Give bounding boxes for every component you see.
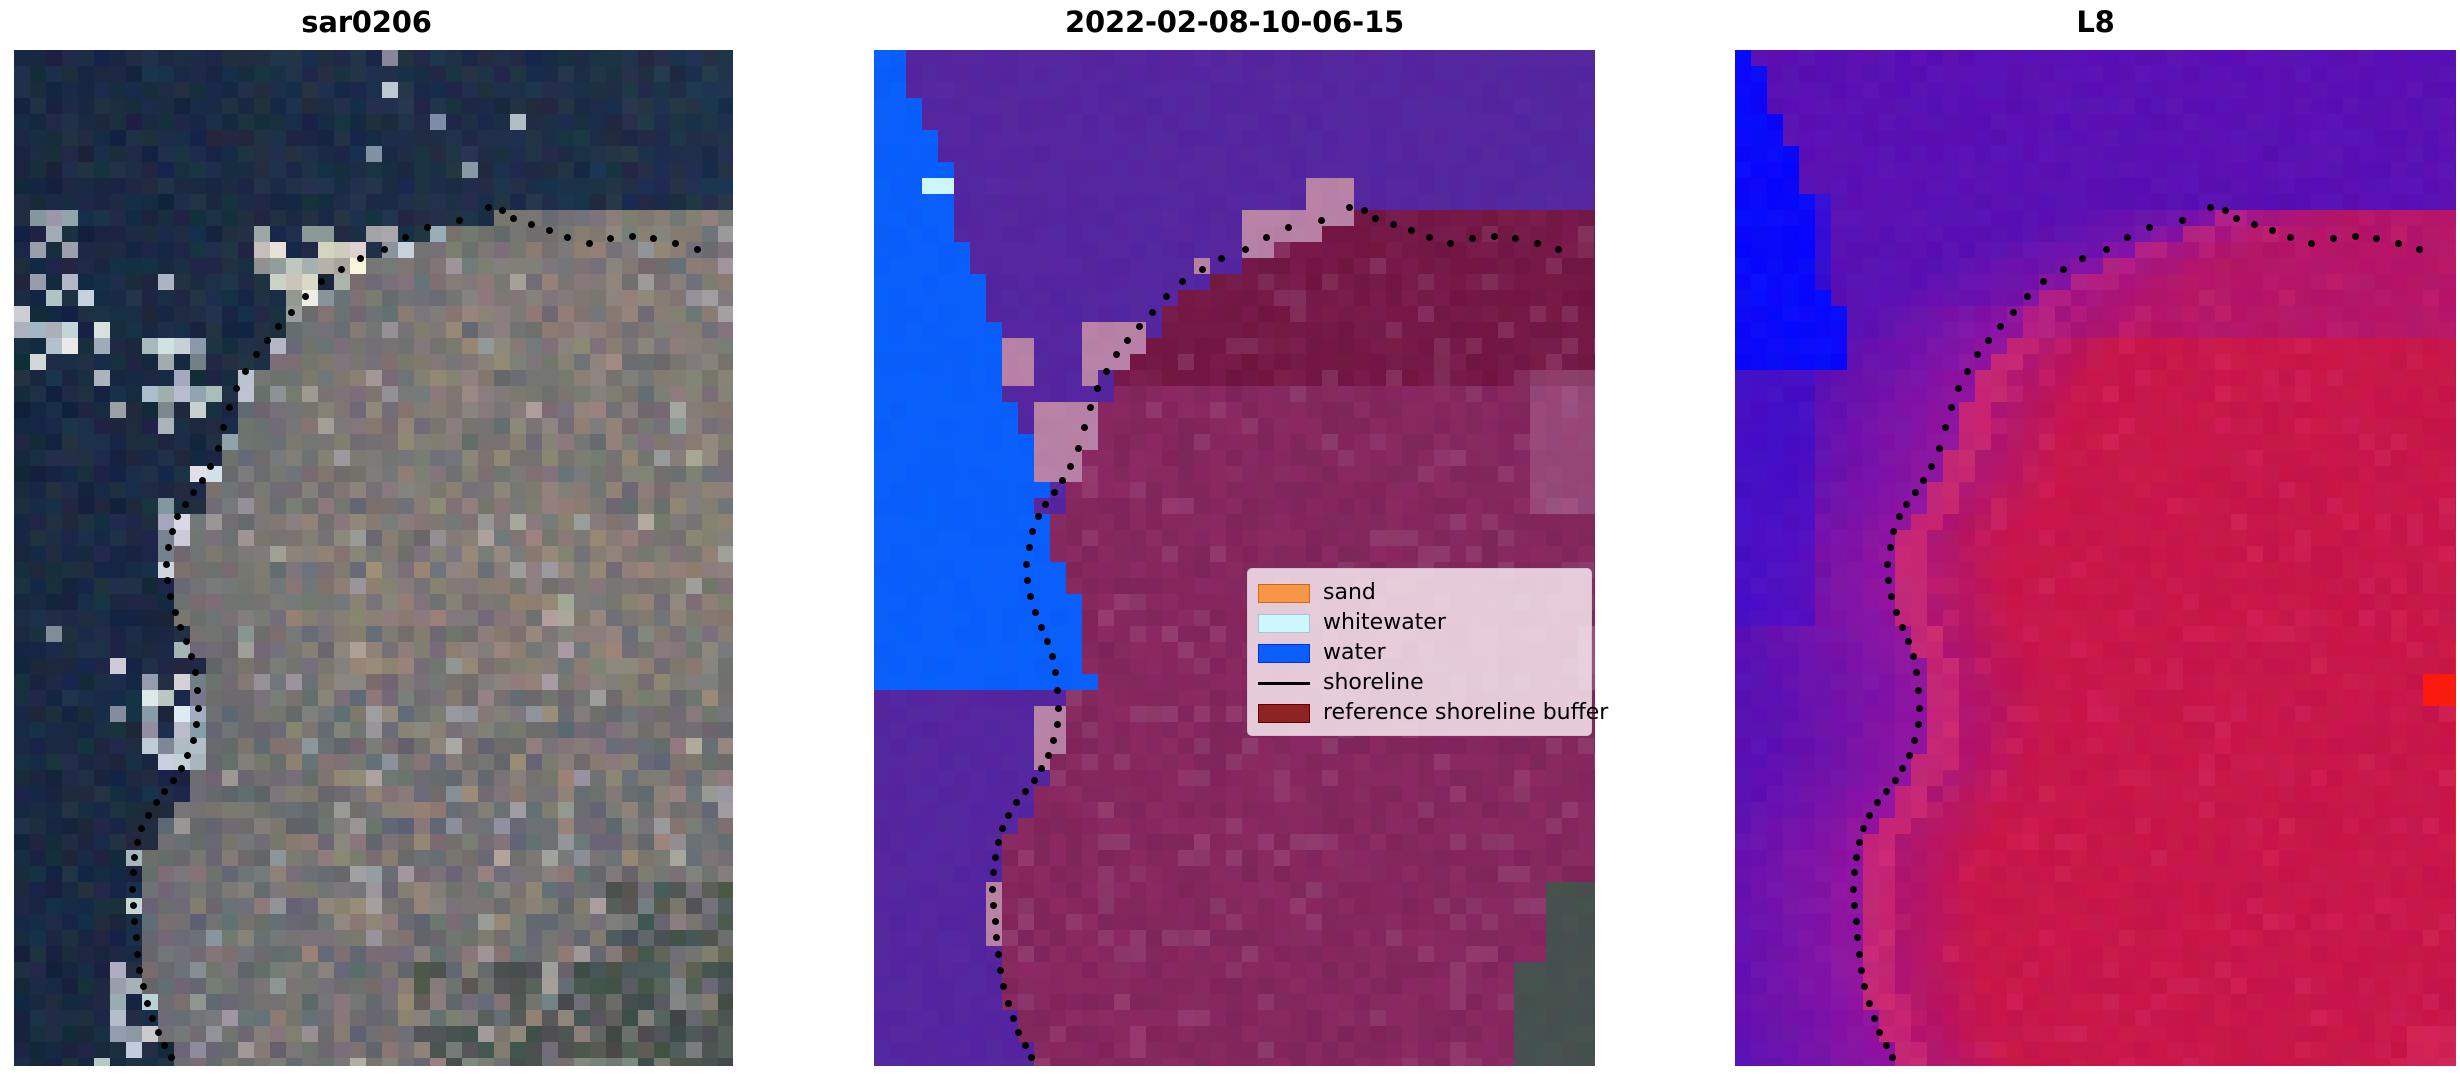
figure-canvas: sar0206 2022-02-08-10-06-15 L8 sand whit… [0,0,2460,1079]
legend-item: sand [1258,578,1579,608]
legend-swatch-shoreline [1258,682,1310,685]
panel-l8-image [1735,50,2456,1066]
legend-label-sand: sand [1323,582,1376,604]
legend-swatch-sand [1258,584,1310,603]
panel-title-sar: sar0206 [0,0,733,44]
legend-swatch-water [1258,644,1310,663]
panel-sar: sar0206 [0,0,760,1079]
legend-swatch-reference-shoreline-buffer [1258,704,1310,723]
panel-title-l8: L8 [1735,0,2456,44]
panel-classification-image [874,50,1595,1066]
panel-title-classification: 2022-02-08-10-06-15 [874,0,1595,44]
legend: sand whitewater water shoreline referenc… [1247,568,1592,736]
legend-item: whitewater [1258,608,1579,638]
legend-label-reference-shoreline-buffer: reference shoreline buffer [1323,702,1608,724]
legend-label-shoreline: shoreline [1323,672,1424,694]
panel-l8: L8 [1620,0,2460,1079]
legend-label-whitewater: whitewater [1323,612,1446,634]
legend-item: shoreline [1258,668,1579,698]
panel-sar-image [14,50,733,1066]
legend-item: water [1258,638,1579,668]
legend-label-water: water [1323,642,1386,664]
panel-classification: 2022-02-08-10-06-15 [760,0,1620,1079]
legend-swatch-whitewater [1258,614,1310,633]
legend-item: reference shoreline buffer [1258,698,1579,728]
